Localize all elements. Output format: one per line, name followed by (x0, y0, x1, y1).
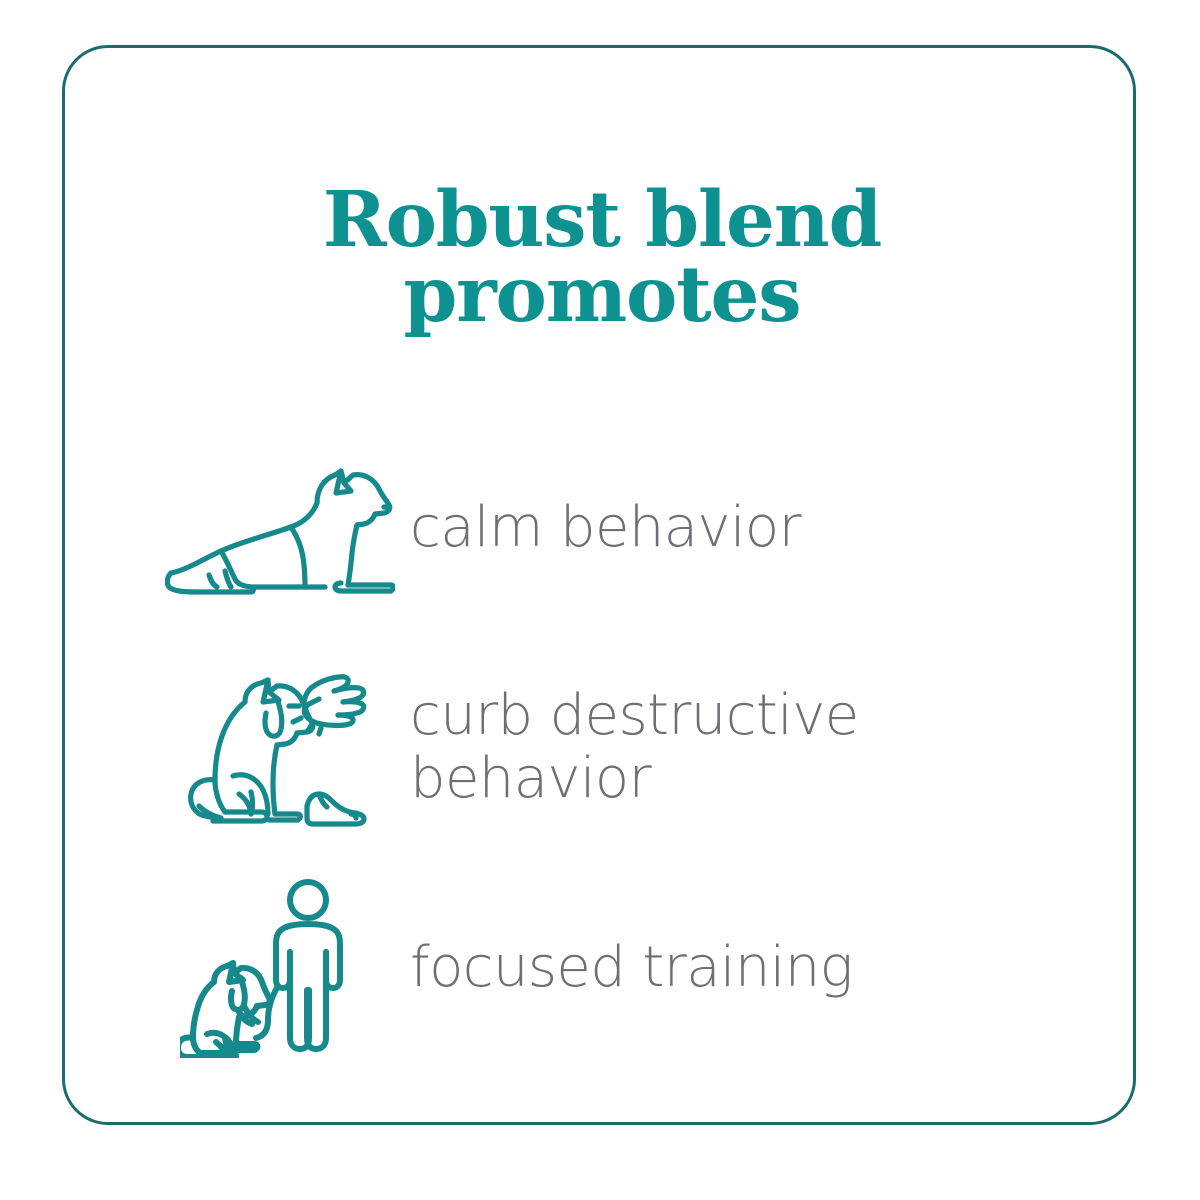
page-title: Robust blend promotes (65, 183, 1139, 332)
benefit-label-calm-behavior: calm behavior (410, 497, 1010, 560)
benefit-label-curb-destructive-behavior: curb destructive behavior (410, 685, 1010, 810)
dog-lying-down-icon (160, 461, 400, 596)
benefit-label-line-1: focused training (410, 935, 853, 1000)
benefit-label-line-1: curb destructive (410, 683, 859, 748)
page-title-line-1: Robust blend (65, 183, 1139, 258)
page-title-line-2: promotes (65, 258, 1139, 333)
benefits-list: calm behavior (65, 423, 1139, 1063)
benefit-label-line-1: calm behavior (410, 495, 801, 560)
benefit-item-focused-training: focused training (65, 873, 1139, 1063)
benefit-label-line-2: behavior (410, 748, 1010, 811)
person-with-dog-on-leash-icon (160, 878, 400, 1058)
benefits-card: Robust blend promotes (62, 45, 1136, 1125)
benefit-item-calm-behavior: calm behavior (65, 433, 1139, 623)
benefit-label-focused-training: focused training (410, 937, 1010, 1000)
poster-canvas: Robust blend promotes (0, 0, 1200, 1200)
benefit-item-curb-destructive-behavior: curb destructive behavior (65, 653, 1139, 843)
dog-sitting-with-hand-and-chewed-shoe-icon (160, 666, 400, 831)
